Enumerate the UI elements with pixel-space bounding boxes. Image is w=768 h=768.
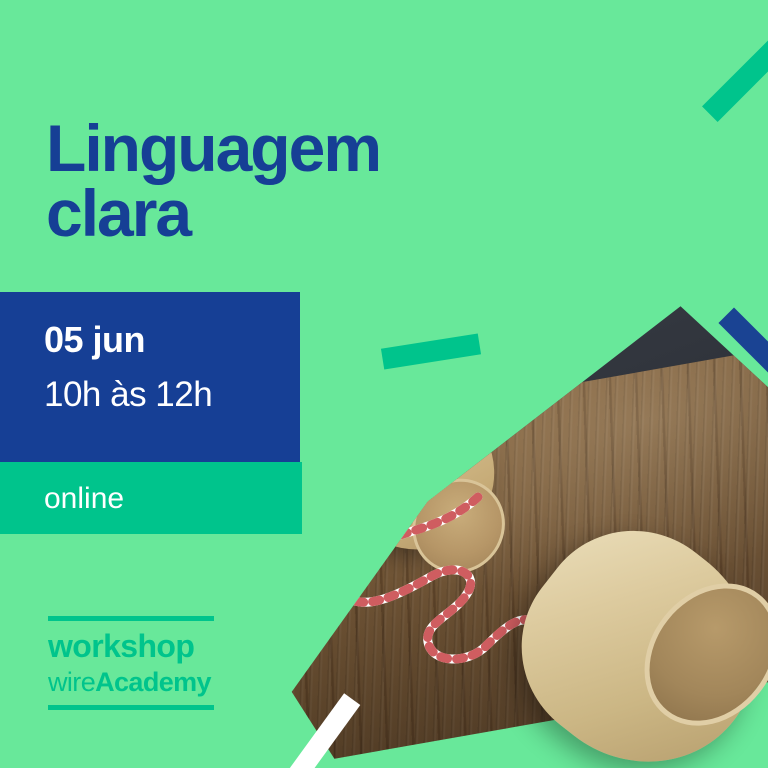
title-line-1: Linguagem	[46, 111, 380, 185]
logo-rule-bottom	[48, 705, 214, 710]
logo-brand-label: wireAcademy	[48, 666, 214, 698]
event-photo	[282, 292, 768, 768]
title-line-2: clara	[46, 181, 380, 246]
teal-bar-photo-corner-stripe	[381, 333, 481, 369]
event-date: 05 jun	[44, 319, 145, 361]
page-title: Linguagem clara	[46, 116, 380, 245]
logo-brand-academy: Academy	[95, 667, 211, 697]
teal-diagonal-top-right-stripe	[702, 30, 768, 122]
poster-canvas: Linguagem clara 05 jun 10h às 12h online…	[0, 0, 768, 768]
event-time: 10h às 12h	[44, 375, 212, 415]
event-format-label: online	[44, 482, 124, 516]
brand-logo: workshop wireAcademy	[48, 616, 214, 710]
event-format-band: online	[0, 462, 302, 534]
event-info-box: 05 jun 10h às 12h	[0, 292, 300, 462]
logo-brand-wire: wire	[48, 667, 95, 697]
logo-workshop-label: workshop	[48, 628, 214, 666]
logo-rule-top	[48, 616, 214, 621]
